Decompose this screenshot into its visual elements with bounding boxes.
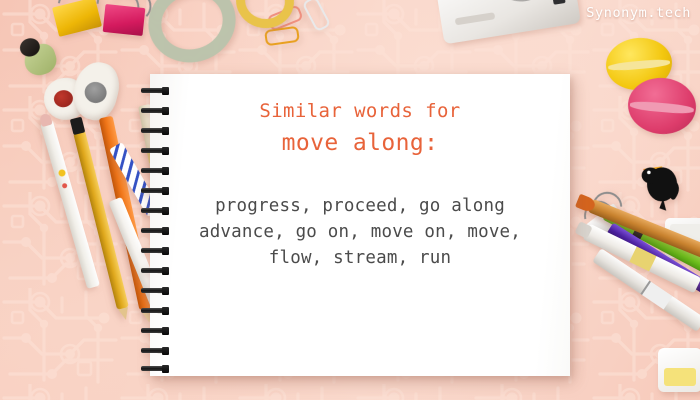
toucan-sticker-icon <box>626 156 688 214</box>
spiral-notebook: Similar words for move along: progress, … <box>150 74 570 376</box>
heading-line-2: move along: <box>150 126 570 160</box>
synonyms-line: advance, go on, move on, move, <box>150 219 570 245</box>
paint-jar-icon <box>658 348 700 392</box>
site-logo[interactable]: Synonym.tech <box>586 5 691 21</box>
heading-line-1: Similar words for <box>150 96 570 126</box>
synonyms-line: flow, stream, run <box>150 245 570 271</box>
synonyms-line: progress, proceed, go along <box>150 193 570 219</box>
binder-clip-magenta-icon <box>103 4 146 36</box>
synonym-card: Similar words for move along: progress, … <box>150 96 570 271</box>
screenshot-canvas: Similar words for move along: progress, … <box>0 0 700 400</box>
synonyms-list: progress, proceed, go along advance, go … <box>150 193 570 271</box>
